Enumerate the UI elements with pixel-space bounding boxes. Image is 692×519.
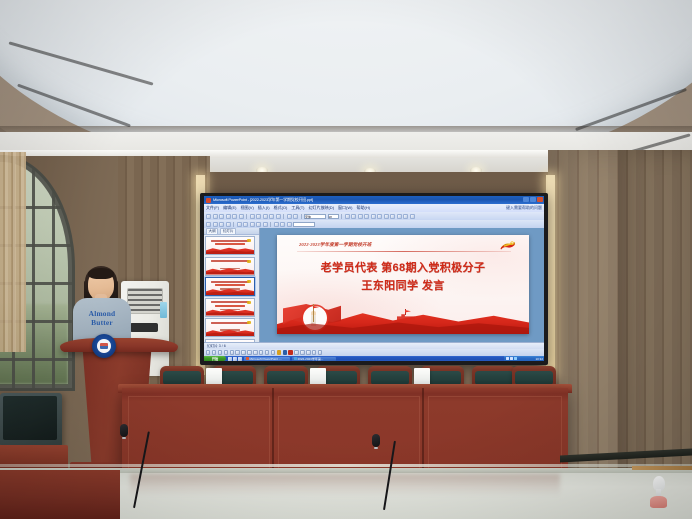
thumbnail-emblem-icon <box>247 321 251 324</box>
chair-backrest <box>515 371 553 385</box>
glass-rail <box>0 464 692 467</box>
redo-icon[interactable] <box>293 214 298 219</box>
minimize-button[interactable] <box>523 197 529 202</box>
ime-icon[interactable] <box>514 357 517 360</box>
design-icon[interactable] <box>256 222 261 227</box>
italic-icon[interactable] <box>351 214 356 219</box>
microphone-head-right <box>372 434 380 447</box>
new-slide-icon[interactable] <box>263 222 268 227</box>
speaker-bangs <box>88 268 114 279</box>
powerpoint-formatting-toolbar[interactable] <box>204 220 544 228</box>
draw-menu-icon[interactable] <box>206 350 210 354</box>
font-name-combo[interactable]: 宋体 <box>304 214 326 219</box>
powerpoint-title-bar: Microsoft PowerPoint - [2022-2023学年第一学期党… <box>204 196 544 204</box>
thumbnail-emblem-icon <box>247 239 251 242</box>
building-flag <box>405 310 411 314</box>
table-panel-outline <box>428 396 562 474</box>
podium-lectern-top <box>60 338 178 352</box>
transition-icon[interactable] <box>280 222 285 227</box>
cpc-emblem-icon <box>498 239 517 252</box>
toolbar-separator-2 <box>283 214 284 219</box>
menu-item-file[interactable]: 文件(F) <box>206 205 219 211</box>
increase-font-icon[interactable] <box>403 214 408 219</box>
animation-icon[interactable] <box>274 222 279 227</box>
cut-icon[interactable] <box>256 214 261 219</box>
toolbar-separator-1 <box>246 214 247 219</box>
picture-icon[interactable] <box>271 350 275 354</box>
insert-chart-icon[interactable] <box>213 222 218 227</box>
powerpoint-app-icon <box>206 198 211 203</box>
close-button[interactable] <box>537 197 543 202</box>
control-monitor-screen <box>3 396 57 440</box>
underline-icon[interactable] <box>358 214 363 219</box>
slide-thumbnail-2[interactable] <box>205 257 255 276</box>
select-arrow-icon[interactable] <box>212 350 216 354</box>
thumbnail-text-line <box>211 260 249 262</box>
wordart-icon[interactable] <box>253 350 257 354</box>
powerpoint-drawing-toolbar[interactable] <box>204 349 544 356</box>
powerpoint-window-title: Microsoft PowerPoint - [2022-2023学年第一学期党… <box>213 197 313 203</box>
spellcheck-icon[interactable] <box>250 214 255 219</box>
menu-item-window[interactable]: 窗口(W) <box>338 205 352 211</box>
conference-room-photo: Microsoft PowerPoint - [2022-2023学年第一学期党… <box>0 0 692 519</box>
maximize-button[interactable] <box>530 197 536 202</box>
menu-item-edit[interactable]: 编辑(E) <box>223 205 236 211</box>
chair-backrest <box>371 371 409 385</box>
new-icon[interactable] <box>206 214 211 219</box>
grid-icon[interactable] <box>243 222 248 227</box>
save-icon[interactable] <box>219 214 224 219</box>
led-screen[interactable]: Microsoft PowerPoint - [2022-2023学年第一学期党… <box>204 196 544 361</box>
font-color-icon[interactable] <box>288 350 292 354</box>
open-icon[interactable] <box>213 214 218 219</box>
shadow-icon[interactable] <box>364 214 369 219</box>
diagram-icon[interactable] <box>259 350 263 354</box>
shirt-text-line-2: Butter <box>76 319 128 328</box>
podium-emblem-mark <box>100 343 108 349</box>
shadow-style-icon[interactable] <box>312 350 316 354</box>
start-button-label: 开始 <box>212 356 218 361</box>
arrow-icon[interactable] <box>230 350 234 354</box>
thumbnail-text-line <box>215 305 245 307</box>
print-preview-icon[interactable] <box>239 214 244 219</box>
menu-item-slideshow[interactable]: 幻灯片放映(D) <box>308 205 334 211</box>
slide-thumbnail-5[interactable] <box>205 318 255 337</box>
media-player-icon[interactable] <box>238 357 242 361</box>
copy-icon[interactable] <box>263 214 268 219</box>
toolbar-separator-3 <box>301 214 302 219</box>
start-button[interactable]: 开始 <box>204 356 226 361</box>
slide-header-rule <box>297 251 511 252</box>
window-mullion-h5 <box>0 358 72 361</box>
menu-item-format[interactable]: 格式(O) <box>274 205 288 211</box>
slide-thumbnail-1[interactable] <box>205 236 255 255</box>
slide-title-line-2: 王东阳同学 发言 <box>277 277 529 293</box>
chair-backrest <box>267 371 305 385</box>
chair-backrest <box>475 371 513 385</box>
menu-item-tools[interactable]: 工具(T) <box>291 205 304 211</box>
document-icon <box>294 357 297 360</box>
paste-icon[interactable] <box>269 214 274 219</box>
powerpoint-standard-toolbar[interactable]: 宋体 18 <box>204 212 544 220</box>
window-control-buttons[interactable] <box>523 197 543 202</box>
3d-style-icon[interactable] <box>318 350 322 354</box>
microphone-ring-right <box>374 447 378 449</box>
numbering-icon[interactable] <box>397 214 402 219</box>
speaker-shirt-text: Almond Butter <box>76 310 128 327</box>
line-color-icon[interactable] <box>283 350 287 354</box>
air-conditioner-display-panel <box>130 323 158 332</box>
floor-reflection <box>130 474 560 496</box>
slide-editing-area[interactable]: 2022-2023学年度第一学期党校开班 老学员代表 第68期入党积极分子 王东… <box>261 228 544 342</box>
decorative-object <box>650 476 667 506</box>
slide-counter-text: 幻灯片 3 / 6 <box>207 344 226 349</box>
taskbar-button-powerpoint[interactable]: Microsoft PowerPoint -... <box>244 357 290 361</box>
align-left-icon[interactable] <box>371 214 376 219</box>
thumbnail-text-line <box>211 301 249 303</box>
clipart-icon[interactable] <box>265 350 269 354</box>
textbox-icon[interactable] <box>247 350 251 354</box>
decor-object-base <box>650 496 667 508</box>
undo-icon[interactable] <box>287 214 292 219</box>
bullets-icon[interactable] <box>390 214 395 219</box>
decor-shelf <box>632 466 692 470</box>
zoom-in-icon[interactable] <box>237 222 242 227</box>
table-panel-outline <box>278 396 420 474</box>
hyperlink-icon[interactable] <box>219 222 224 227</box>
system-tray[interactable]: 10:32 <box>504 356 544 361</box>
window-curtain <box>0 152 26 352</box>
taskbar-button-document[interactable]: 2022-2023学年第... <box>292 357 336 361</box>
line-icon[interactable] <box>224 350 228 354</box>
thumbnail-text-line <box>211 281 249 283</box>
slide-thumbnail-3[interactable] <box>205 277 255 296</box>
help-search-box[interactable]: 键入需要帮助的问题 <box>506 205 542 211</box>
format-painter-icon[interactable] <box>276 214 281 219</box>
dash-style-icon[interactable] <box>300 350 304 354</box>
rectangle-icon[interactable] <box>235 350 239 354</box>
network-icon[interactable] <box>510 357 513 360</box>
line-style-icon[interactable] <box>294 350 298 354</box>
slide-bottom-artwork <box>277 300 529 334</box>
expand-icon[interactable] <box>226 222 231 227</box>
thumbnail-emblem-icon <box>247 280 251 283</box>
air-conditioner-vent <box>127 288 163 314</box>
toolbar2-separator-2 <box>270 222 271 227</box>
font-size-combo[interactable]: 18 <box>328 214 339 219</box>
powerpoint-menu-bar[interactable]: 文件(F) 编辑(E) 视图(V) 插入(I) 格式(O) 工具(T) 幻灯片放… <box>204 204 544 212</box>
autoshapes-icon[interactable] <box>218 350 222 354</box>
style-combo[interactable] <box>293 222 315 227</box>
air-conditioner-label <box>160 302 167 318</box>
thumbnail-text-line <box>211 240 249 242</box>
microphone-head-left <box>120 424 128 437</box>
chair-backrest <box>163 371 201 385</box>
browser-icon[interactable] <box>233 357 237 361</box>
align-right-icon[interactable] <box>384 214 389 219</box>
arrow-style-icon[interactable] <box>306 350 310 354</box>
toolbar-separator-4 <box>341 214 342 219</box>
taskbar-button-label: Microsoft PowerPoint -... <box>250 357 283 361</box>
window-mullion-v3 <box>52 158 55 388</box>
print-icon[interactable] <box>232 214 237 219</box>
color-scheme-icon[interactable] <box>250 222 255 227</box>
quick-launch-bar[interactable] <box>228 357 242 361</box>
menu-item-insert[interactable]: 插入(I) <box>258 205 270 211</box>
volume-icon[interactable] <box>506 357 509 360</box>
oval-icon[interactable] <box>241 350 245 354</box>
tab-outline[interactable]: 大纲 <box>206 228 218 235</box>
microphone-ring-left <box>122 437 126 439</box>
slide-header-text: 2022-2023学年度第一学期党校开班 <box>299 242 371 248</box>
current-slide[interactable]: 2022-2023学年度第一学期党校开班 老学员代表 第68期入党积极分子 王东… <box>277 235 529 334</box>
thumbnail-emblem-icon <box>247 260 251 263</box>
taskbar-button-label: 2022-2023学年第... <box>298 357 324 361</box>
table-panel-outline <box>128 396 270 474</box>
menu-item-help[interactable]: 帮助(H) <box>356 205 370 211</box>
outline-pane-tabs[interactable]: 大纲 幻灯片 <box>204 228 259 235</box>
building-silhouette <box>397 313 415 321</box>
powerpoint-icon <box>246 357 249 360</box>
decrease-font-icon[interactable] <box>410 214 415 219</box>
window-mullion-v2 <box>32 158 35 388</box>
powerpoint-status-bar: 幻灯片 3 / 6 <box>204 342 544 349</box>
slide-thumbnail-list[interactable] <box>205 236 257 358</box>
left-counter-desk <box>0 470 120 519</box>
show-desktop-icon[interactable] <box>228 357 232 361</box>
windows-taskbar[interactable]: 开始 Microsoft PowerPoint -... 2022-2023学年… <box>204 356 544 361</box>
thumbnail-emblem-icon <box>247 301 251 304</box>
align-center-icon[interactable] <box>377 214 382 219</box>
menu-item-view[interactable]: 视图(V) <box>240 205 253 211</box>
tab-slides[interactable]: 幻灯片 <box>220 228 236 235</box>
slideshow-icon[interactable] <box>287 222 292 227</box>
slide-thumbnail-4[interactable] <box>205 298 255 317</box>
slide-title-line-1: 老学员代表 第68期入党积极分子 <box>277 259 529 275</box>
bold-icon[interactable] <box>345 214 350 219</box>
toolbar2-separator-1 <box>233 222 234 227</box>
fill-color-icon[interactable] <box>277 350 281 354</box>
taskbar-clock: 10:32 <box>535 357 543 361</box>
table-icon[interactable] <box>206 222 211 227</box>
mail-icon[interactable] <box>226 214 231 219</box>
thumbnail-text-line <box>211 322 249 324</box>
